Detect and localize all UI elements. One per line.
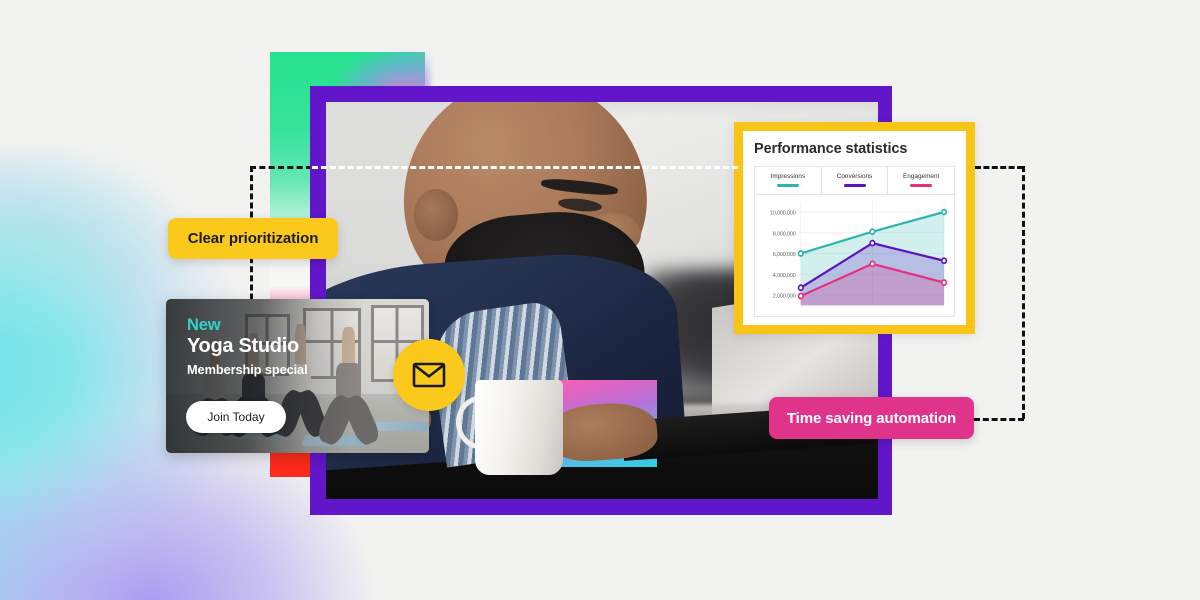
- legend-swatch-conversions: [844, 184, 866, 187]
- point-engagement-0: [798, 293, 803, 298]
- point-impressions-1: [870, 229, 875, 234]
- legend-swatch-impressions: [777, 184, 799, 187]
- collage-canvas: Performance statistics Impressions Conve…: [0, 0, 1200, 600]
- point-engagement-2: [942, 280, 947, 285]
- legend-label-impressions: Impressions: [757, 173, 819, 180]
- dashed-connector-top-white: [312, 166, 738, 169]
- y-tick-label: 2,000,000: [773, 293, 796, 299]
- legend-item-engagement[interactable]: Engagement: [888, 167, 954, 194]
- point-engagement-1: [870, 261, 875, 266]
- legend-label-conversions: Conversions: [824, 173, 886, 180]
- legend-item-impressions[interactable]: Impressions: [755, 167, 822, 194]
- mail-badge[interactable]: [393, 339, 465, 411]
- legend-swatch-engagement: [910, 184, 932, 187]
- dashed-connector-top-left: [250, 166, 312, 169]
- dashed-connector-right-bottom: [974, 418, 1024, 421]
- performance-statistics-inner: Performance statistics Impressions Conve…: [743, 131, 966, 325]
- legend-label-engagement: Engagement: [890, 173, 952, 180]
- point-conversions-1: [870, 240, 875, 245]
- photo-mug: [475, 380, 563, 475]
- point-impressions-0: [798, 251, 803, 256]
- yoga-card-text: New Yoga Studio Membership special: [187, 317, 308, 377]
- y-tick-label: 4,000,000: [773, 272, 796, 278]
- dashed-connector-right-top: [975, 166, 1023, 169]
- time-saving-automation-pill[interactable]: Time saving automation: [769, 397, 974, 439]
- line-chart-svg: 2,000,0004,000,0006,000,0008,000,00010,0…: [755, 195, 954, 316]
- yoga-subheading: Membership special: [187, 362, 308, 377]
- clear-prioritization-pill[interactable]: Clear prioritization: [168, 218, 338, 259]
- y-tick-label: 10,000,000: [770, 210, 796, 216]
- legend-item-conversions[interactable]: Conversions: [822, 167, 889, 194]
- yoga-heading: Yoga Studio: [187, 335, 308, 357]
- yoga-studio-card[interactable]: New Yoga Studio Membership special Join …: [166, 299, 429, 453]
- performance-statistics-card: Performance statistics Impressions Conve…: [734, 122, 975, 334]
- point-conversions-2: [942, 258, 947, 263]
- point-impressions-2: [942, 209, 947, 214]
- dashed-connector-right-vertical: [1022, 166, 1025, 419]
- performance-statistics-title: Performance statistics: [754, 141, 955, 157]
- line-chart: 2,000,0004,000,0006,000,0008,000,00010,0…: [754, 194, 955, 317]
- point-conversions-0: [798, 285, 803, 290]
- yoga-eyebrow: New: [187, 317, 308, 334]
- join-today-button[interactable]: Join Today: [186, 401, 286, 433]
- chart-legend: Impressions Conversions Engagement: [754, 166, 955, 194]
- y-tick-label: 6,000,000: [773, 252, 796, 258]
- y-tick-label: 8,000,000: [773, 231, 796, 237]
- envelope-icon: [412, 362, 446, 388]
